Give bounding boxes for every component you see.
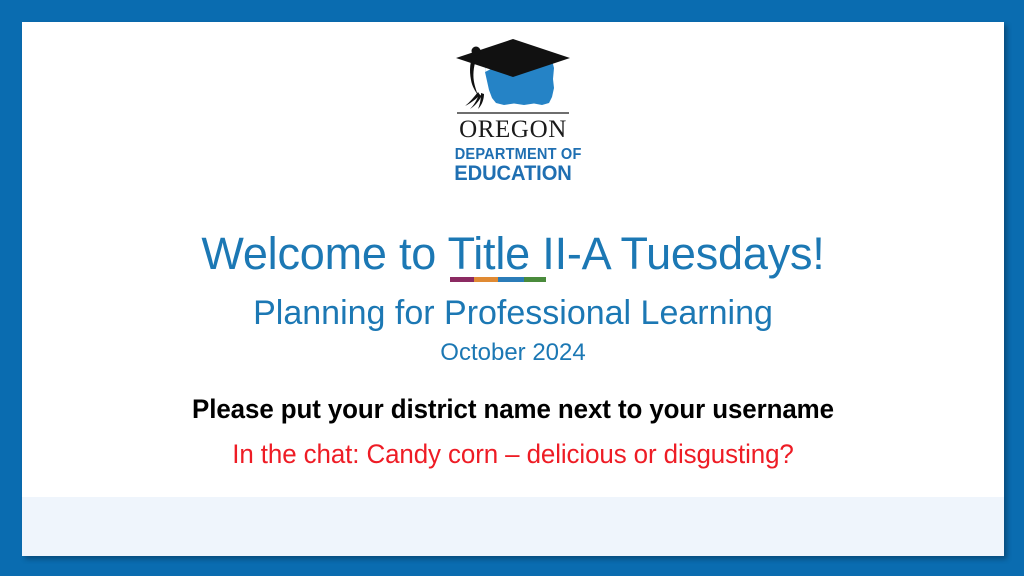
title-group: Welcome to Title II-A Tuesdays! bbox=[22, 227, 1004, 281]
slide-instruction-text: Please put your district name next to yo… bbox=[42, 393, 985, 425]
accent-segment-blue bbox=[498, 277, 524, 282]
slide-text-block: Welcome to Title II-A Tuesdays! Planning… bbox=[22, 227, 1004, 470]
slide-chat-prompt-text: In the chat: Candy corn – delicious or d… bbox=[42, 438, 985, 470]
graduation-cap-oregon-state-icon bbox=[454, 38, 572, 110]
bottom-decorative-band bbox=[22, 497, 1004, 556]
logo-wordmark-education: EDUCATION bbox=[453, 162, 572, 186]
slide-subtitle: Planning for Professional Learning bbox=[22, 293, 1004, 333]
slide-date: October 2024 bbox=[22, 339, 1004, 367]
slide-canvas: OREGON DEPARTMENT OF EDUCATION Welcome t… bbox=[22, 22, 1004, 556]
four-color-accent-underline bbox=[450, 277, 546, 282]
logo-divider bbox=[457, 112, 569, 114]
logo-wordmark-oregon: OREGON bbox=[451, 116, 575, 143]
accent-segment-green bbox=[524, 277, 546, 282]
slide-frame: OREGON DEPARTMENT OF EDUCATION Welcome t… bbox=[0, 0, 1024, 576]
oregon-department-of-education-logo: OREGON DEPARTMENT OF EDUCATION bbox=[22, 22, 1004, 194]
accent-segment-orange bbox=[474, 277, 498, 282]
logo-inner: OREGON DEPARTMENT OF EDUCATION bbox=[451, 38, 575, 190]
slide-title: Welcome to Title II-A Tuesdays! bbox=[22, 227, 1004, 281]
accent-segment-magenta bbox=[450, 277, 474, 282]
